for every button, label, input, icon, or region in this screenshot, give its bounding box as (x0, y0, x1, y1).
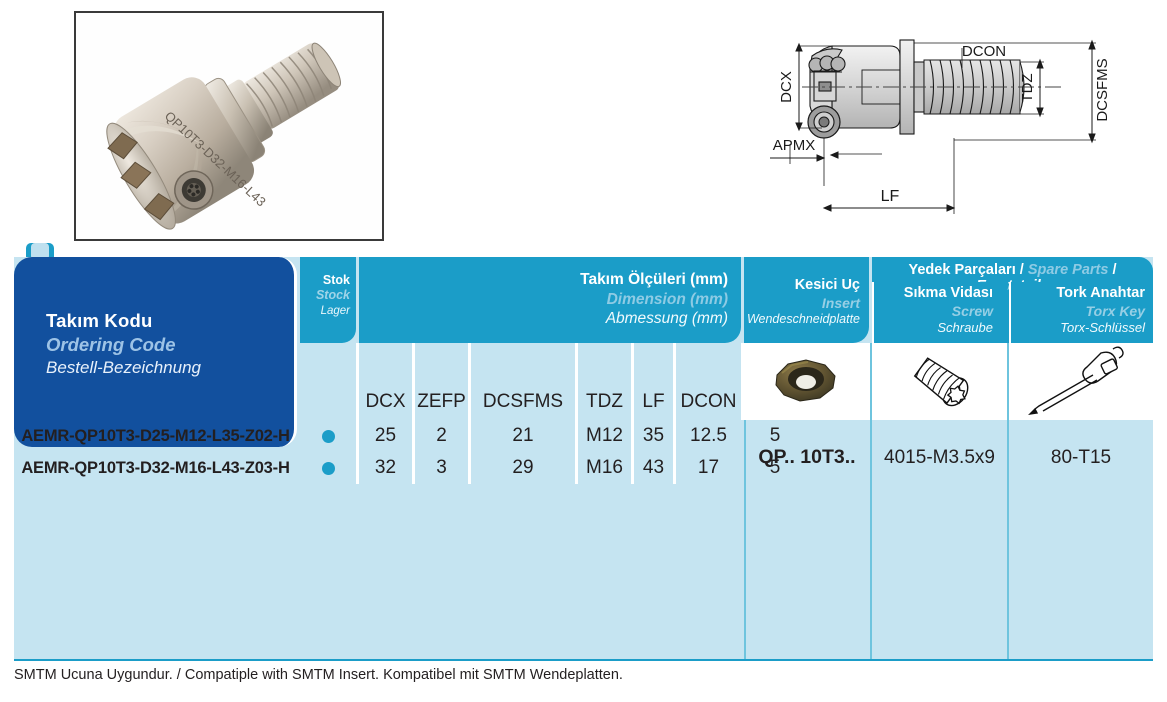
screw-value: 4015-M3.5x9 (870, 420, 1007, 495)
subheader-lf: LF (631, 343, 673, 420)
row-1-code: AEMR-QP10T3-D32-M16-L43-Z03-H (14, 452, 297, 484)
product-table: Takım Kodu Ordering Code Bestell-Bezeich… (14, 257, 1153, 661)
header-ordering-code-labels: Takım Kodu Ordering Code Bestell-Bezeich… (46, 309, 286, 379)
header-torx-en: Torx Key (1056, 303, 1145, 320)
row-0-lf: 35 (631, 420, 673, 452)
row-0-code: AEMR-QP10T3-D25-M12-L35-Z02-H (14, 420, 297, 452)
header-dimensions-en: Dimension (mm) (580, 290, 728, 310)
header-torx-tr: Tork Anahtar (1056, 285, 1145, 303)
header-screw-de: Schraube (904, 320, 993, 336)
drawing-label-lf: LF (881, 188, 900, 205)
footnote: SMTM Ucuna Uygundur. / Compatiple with S… (14, 667, 623, 683)
row-0-tdz: M12 (575, 420, 631, 452)
milling-head-photo-illustration: QP10T3-D32-M16-L43 (76, 13, 382, 239)
technical-drawing: DCX APMX LF DCON TDZ DCSFMS (762, 18, 1162, 240)
header-ordering-code-tr: Takım Kodu (46, 309, 286, 333)
torx-key-icon (1009, 343, 1153, 418)
header-spare-sep-1: / (1020, 262, 1024, 278)
table-bottom-rule (14, 659, 1153, 661)
drawing-label-apmx: APMX (773, 137, 816, 154)
subheader-stock-spacer (300, 343, 356, 420)
header-stock: Stok Stock Lager (300, 257, 356, 343)
subheader-tdz: TDZ (575, 343, 631, 420)
row-0-dcx: 25 (356, 420, 412, 452)
header-torx-de: Torx-Schlüssel (1056, 320, 1145, 336)
header-stock-en: Stock (316, 288, 350, 303)
insert-image-cell (744, 343, 870, 420)
header-insert-de: Wendeschneidplatte (747, 312, 860, 328)
header-insert-tr: Kesici Uç (747, 277, 860, 295)
product-photo: QP10T3-D32-M16-L43 (74, 11, 384, 241)
header-stock-de: Lager (316, 304, 350, 318)
header-torx-labels: Tork Anahtar Torx Key Torx-Schlüssel (1056, 285, 1145, 336)
header-insert: Kesici Uç Insert Wendeschneidplatte (744, 257, 869, 343)
product-photo-inner: QP10T3-D32-M16-L43 (76, 13, 382, 239)
header-dimensions: Takım Ölçüleri (mm) Dimension (mm) Abmes… (359, 257, 741, 343)
row-1-zefp: 3 (412, 452, 468, 484)
drawing-label-dcon: DCON (962, 43, 1006, 60)
drawing-label-tdz: TDZ (1019, 73, 1036, 102)
catalog-page: QP10T3-D32-M16-L43 (0, 0, 1167, 702)
drawing-label-dcsfms: DCSFMS (1094, 58, 1111, 121)
header-spare-sep-2: / (1112, 262, 1116, 278)
header-spare-en: Spare Parts (1028, 262, 1109, 278)
header-screw-labels: Sıkma Vidası Screw Schraube (904, 285, 993, 336)
stock-dot-icon (322, 462, 335, 475)
header-ordering-code-en: Ordering Code (46, 333, 286, 357)
header-dimensions-tr: Takım Ölçüleri (mm) (580, 270, 728, 290)
subheader-dimension-columns: DCX ZEFP DCSFMS TDZ LF DCON APMX (300, 343, 741, 420)
header-stock-labels: Stok Stock Lager (316, 273, 350, 318)
row-1-dcx: 32 (356, 452, 412, 484)
subheader-dcon: DCON (673, 343, 741, 420)
header-dimensions-de: Abmessung (mm) (580, 309, 728, 329)
row-1-stock (300, 452, 356, 484)
subheader-dcx: DCX (356, 343, 412, 420)
header-torx: Tork Anahtar Torx Key Torx-Schlüssel (1009, 282, 1153, 343)
header-insert-labels: Kesici Uç Insert Wendeschneidplatte (747, 277, 860, 328)
torx-key-image-cell (1007, 343, 1153, 420)
row-0-dcsfms: 21 (468, 420, 575, 452)
drawing-label-dcx: DCX (778, 71, 795, 103)
header-ordering-code: Takım Kodu Ordering Code Bestell-Bezeich… (14, 257, 297, 447)
row-0-stock (300, 420, 356, 452)
row-0-dcon: 12.5 (673, 420, 741, 452)
header-stock-tr: Stok (316, 273, 350, 288)
row-1-tdz: M16 (575, 452, 631, 484)
subheader-dcsfms: DCSFMS (468, 343, 575, 420)
insert-value: QP.. 10T3.. (744, 420, 870, 495)
header-insert-en: Insert (747, 295, 860, 312)
header-spare-tr: Yedek Parçaları (909, 262, 1016, 278)
row-1-dcsfms: 29 (468, 452, 575, 484)
torx-value: 80-T15 (1007, 420, 1153, 495)
row-1-dcon: 17 (673, 452, 741, 484)
subheader-zefp: ZEFP (412, 343, 468, 420)
row-0-zefp: 2 (412, 420, 468, 452)
row-1-lf: 43 (631, 452, 673, 484)
header-screw-tr: Sıkma Vidası (904, 285, 993, 303)
header-dimensions-labels: Takım Ölçüleri (mm) Dimension (mm) Abmes… (580, 270, 728, 329)
header-screw: Sıkma Vidası Screw Schraube (872, 282, 1007, 343)
header-screw-en: Screw (904, 303, 993, 320)
header-ordering-code-de: Bestell-Bezeichnung (46, 357, 286, 379)
insert-photo-icon (744, 343, 868, 418)
torx-screw-icon (872, 343, 1007, 418)
stock-dot-icon (322, 430, 335, 443)
screw-image-cell (870, 343, 1007, 420)
